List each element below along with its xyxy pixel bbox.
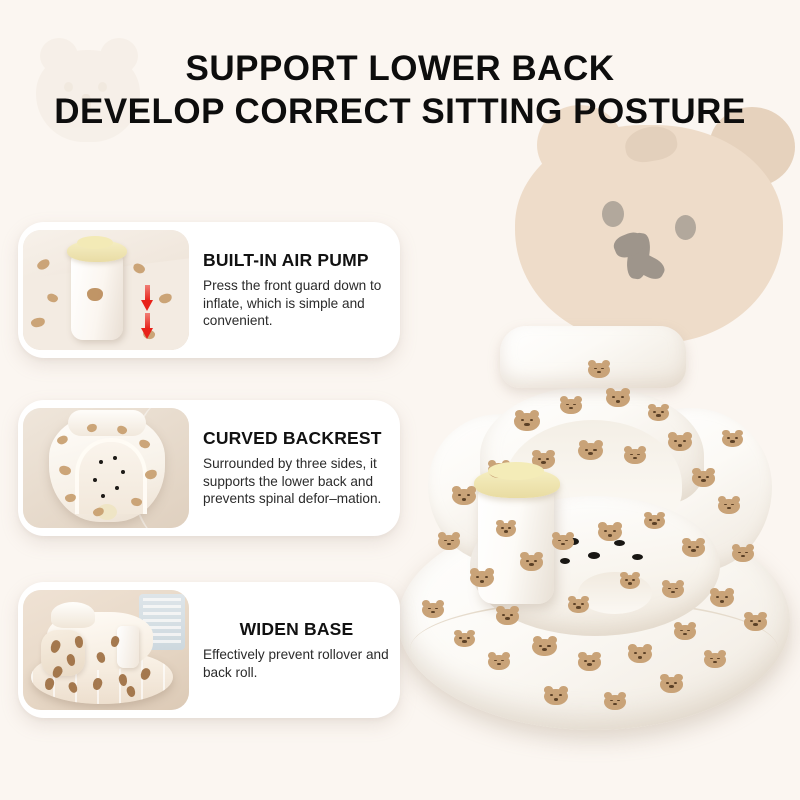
bear-snout xyxy=(625,232,652,280)
arrow-shaft xyxy=(145,313,150,329)
widen-base-photo xyxy=(23,590,189,710)
curved-backrest-photo xyxy=(23,408,189,528)
seat-hollow xyxy=(578,572,652,614)
arrow-head xyxy=(141,300,153,311)
headline: SUPPORT LOWER BACK DEVELOP CORRECT SITTI… xyxy=(0,48,800,133)
product-photo-inflatable-baby-seat xyxy=(392,300,800,740)
feature-title: WIDEN BASE xyxy=(203,619,390,640)
seat-vent-hole xyxy=(560,558,570,564)
air-pump-cylinder xyxy=(117,626,139,668)
feature-text-block: BUILT-IN AIR PUMP Press the front guard … xyxy=(189,250,400,330)
feature-description: Press the front guard down to inflate, w… xyxy=(203,277,390,330)
air-pump-cap-top xyxy=(77,236,113,249)
feature-title: BUILT-IN AIR PUMP xyxy=(203,250,390,271)
feature-description: Effectively prevent rollover and back ro… xyxy=(203,646,390,681)
seat-vent-hole xyxy=(568,538,579,545)
seat-vent-hole xyxy=(588,552,600,559)
seat-vent-hole xyxy=(101,494,105,498)
product-backrest-pillow xyxy=(500,326,686,388)
seat-vent-hole xyxy=(113,456,117,460)
seat-vent-hole xyxy=(99,460,103,464)
bear-snout-right xyxy=(628,249,667,283)
feature-description: Surrounded by three sides, it supports t… xyxy=(203,455,390,508)
seat-vent-hole xyxy=(93,478,97,482)
feature-text-block: WIDEN BASE Effectively prevent rollover … xyxy=(189,619,400,681)
arrow-shaft xyxy=(145,285,150,301)
seat-vent-hole xyxy=(614,540,625,546)
feature-title: CURVED BACKREST xyxy=(203,428,390,449)
feature-card-curved-backrest[interactable]: CURVED BACKREST Surrounded by three side… xyxy=(18,400,400,536)
promo-image-canvas: SUPPORT LOWER BACK DEVELOP CORRECT SITTI… xyxy=(0,0,800,800)
feature-text-block: CURVED BACKREST Surrounded by three side… xyxy=(189,428,400,508)
air-pump-cap-top xyxy=(488,462,544,480)
arrow-head xyxy=(141,328,153,339)
feature-card-built-in-air-pump[interactable]: BUILT-IN AIR PUMP Press the front guard … xyxy=(18,222,400,358)
headline-line-1: SUPPORT LOWER BACK xyxy=(0,48,800,91)
headline-line-2: DEVELOP CORRECT SITTING POSTURE xyxy=(0,91,800,134)
bear-print-on-pump xyxy=(87,288,103,301)
seat-vent-hole xyxy=(632,554,643,560)
feature-card-widen-base[interactable]: WIDEN BASE Effectively prevent rollover … xyxy=(18,582,400,718)
seat-vent-hole xyxy=(121,470,125,474)
seat-vent-hole xyxy=(115,486,119,490)
bear-eye-right xyxy=(675,215,696,240)
bear-eye-left xyxy=(602,201,624,227)
backrest-pillow xyxy=(51,602,95,628)
product-built-in-air-pump xyxy=(478,486,554,604)
air-pump-photo xyxy=(23,230,189,350)
bear-snout-left xyxy=(611,229,647,261)
backrest-pillow-top-view xyxy=(68,410,146,436)
